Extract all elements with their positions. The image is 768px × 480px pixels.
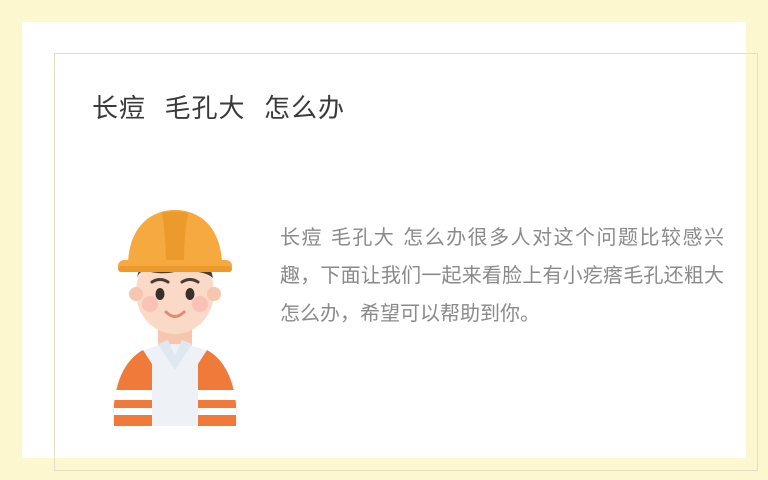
article-body: 长痘 毛孔大 怎么办很多人对这个问题比较感兴趣，下面让我们一起来看脸上有小疙瘩毛… — [280, 218, 724, 332]
page-background: 长痘 毛孔大 怎么办 — [0, 0, 768, 480]
construction-worker-avatar — [100, 204, 250, 426]
article-card: 长痘 毛孔大 怎么办 — [22, 22, 746, 458]
page-title: 长痘 毛孔大 怎么办 — [92, 88, 345, 125]
